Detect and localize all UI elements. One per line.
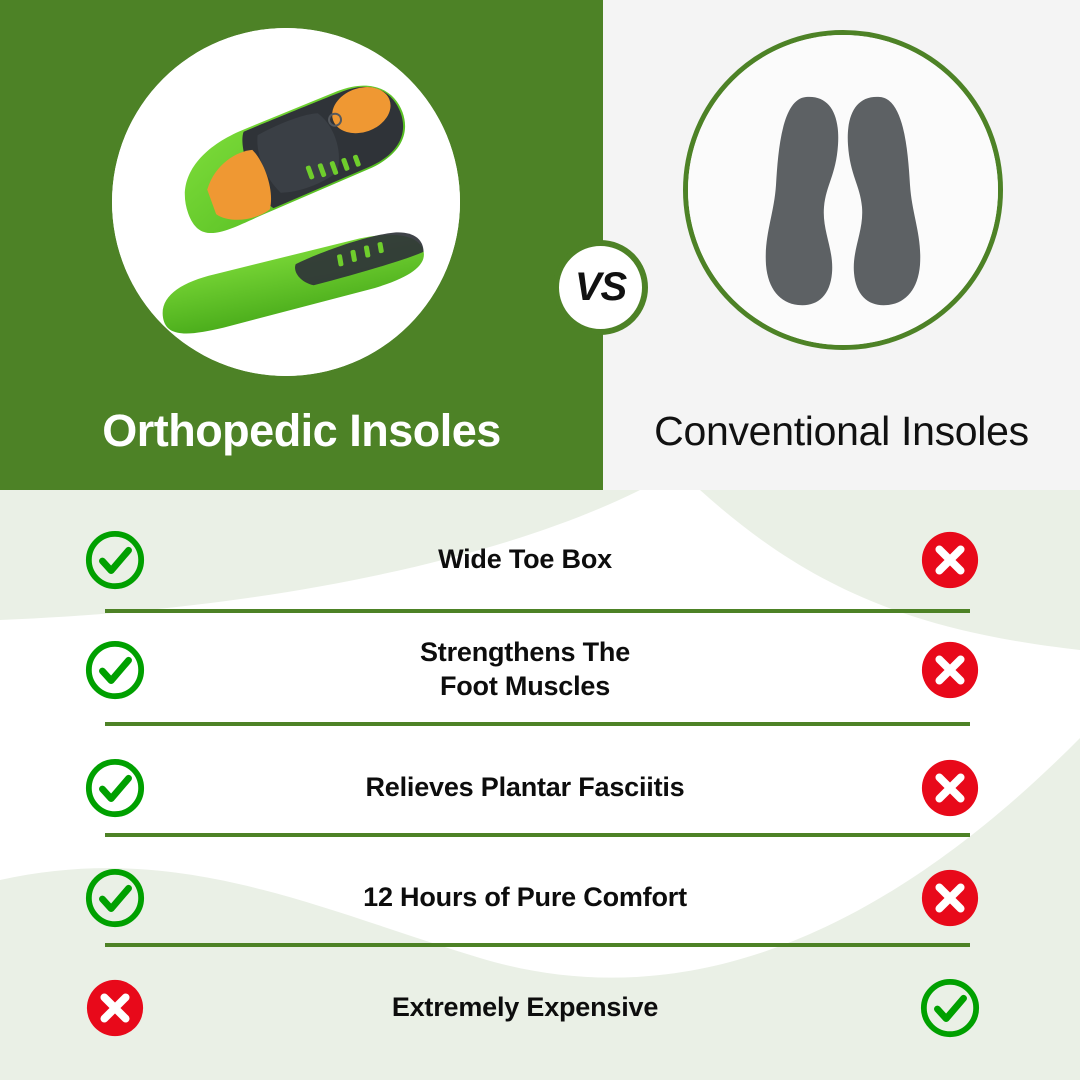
check-circle-icon [84, 639, 146, 701]
cell-orthopedic [0, 977, 230, 1039]
feature-line: 12 Hours of Pure Comfort [230, 881, 820, 915]
comparison-table: Wide Toe Box Strengthens The Foot Muscle… [0, 490, 1080, 1080]
header-section: VS Orthopedic Insoles Conventional Insol… [0, 0, 1080, 490]
check-circle-icon [84, 867, 146, 929]
cell-conventional [820, 639, 1080, 701]
cell-conventional [820, 529, 1080, 591]
cross-circle-icon [919, 639, 981, 701]
cell-conventional [820, 757, 1080, 819]
feature-label: Relieves Plantar Fasciitis [230, 771, 820, 805]
table-row: 12 Hours of Pure Comfort [0, 848, 1080, 948]
comparison-infographic: VS Orthopedic Insoles Conventional Insol… [0, 0, 1080, 1080]
row-divider [105, 722, 970, 726]
cell-orthopedic [0, 529, 230, 591]
feature-line: Extremely Expensive [230, 991, 820, 1025]
row-divider [105, 833, 970, 837]
cell-orthopedic [0, 867, 230, 929]
feature-line: Relieves Plantar Fasciitis [230, 771, 820, 805]
check-circle-icon [919, 977, 981, 1039]
cell-orthopedic [0, 757, 230, 819]
feature-label: Wide Toe Box [230, 543, 820, 577]
cross-circle-icon [919, 529, 981, 591]
vs-badge: VS [553, 240, 648, 335]
orthopedic-insoles-image [112, 28, 460, 376]
table-row: Strengthens The Foot Muscles [0, 615, 1080, 725]
table-row: Extremely Expensive [0, 958, 1080, 1058]
feature-line: Foot Muscles [230, 670, 820, 704]
conventional-insoles-image [683, 30, 1003, 350]
feature-line: Strengthens The [230, 636, 820, 670]
check-circle-icon [84, 529, 146, 591]
row-divider [105, 943, 970, 947]
cell-conventional [820, 977, 1080, 1039]
cross-circle-icon [919, 757, 981, 819]
feature-label: Extremely Expensive [230, 991, 820, 1025]
feature-line: Wide Toe Box [230, 543, 820, 577]
feature-label: Strengthens The Foot Muscles [230, 636, 820, 704]
feature-label: 12 Hours of Pure Comfort [230, 881, 820, 915]
cross-circle-icon [919, 867, 981, 929]
table-row: Relieves Plantar Fasciitis [0, 738, 1080, 838]
check-circle-icon [84, 757, 146, 819]
row-divider [105, 609, 970, 613]
column-title-conventional: Conventional Insoles [603, 408, 1080, 455]
column-title-orthopedic: Orthopedic Insoles [0, 405, 603, 457]
table-row: Wide Toe Box [0, 510, 1080, 610]
cross-circle-icon [84, 977, 146, 1039]
cell-orthopedic [0, 639, 230, 701]
cell-conventional [820, 867, 1080, 929]
